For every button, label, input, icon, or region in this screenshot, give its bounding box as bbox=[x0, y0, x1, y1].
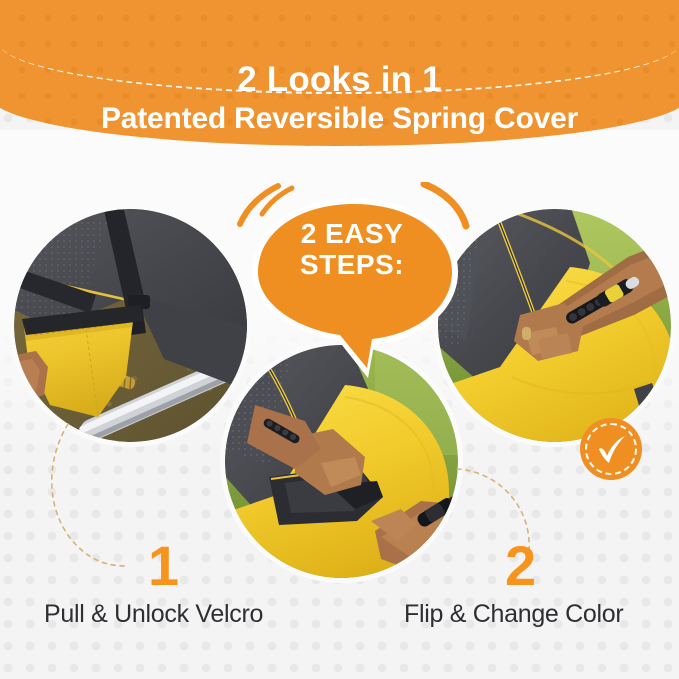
check-icon bbox=[580, 418, 642, 480]
step-number-2: 2 bbox=[505, 538, 536, 594]
step-caption-1: Pull & Unlock Velcro bbox=[44, 602, 263, 627]
photo-pull-unlock-velcro bbox=[14, 209, 247, 442]
header-text-block: 2 Looks in 1 Patented Reversible Spring … bbox=[0, 62, 679, 134]
page-subtitle: Patented Reversible Spring Cover bbox=[0, 104, 679, 134]
speech-bubble: 2 EASY STEPS: bbox=[218, 182, 486, 397]
page-title: 2 Looks in 1 bbox=[0, 62, 679, 97]
check-badge bbox=[580, 418, 642, 480]
step-number-1: 1 bbox=[148, 538, 179, 594]
step-caption-2: Flip & Change Color bbox=[404, 602, 623, 627]
infographic-root: 2 Looks in 1 Patented Reversible Spring … bbox=[0, 0, 679, 679]
